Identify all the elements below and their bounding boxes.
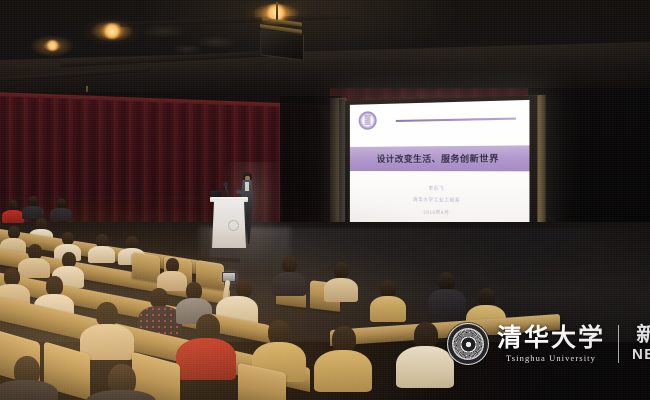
ceiling-vent-1 xyxy=(140,24,186,38)
audience-body xyxy=(324,278,358,302)
ceiling-lamp-3 xyxy=(44,40,61,51)
audience-body xyxy=(314,350,372,392)
audience-head xyxy=(46,276,63,296)
department-logo-icon xyxy=(359,111,377,130)
audience-head xyxy=(334,262,349,279)
audience-head xyxy=(332,326,356,353)
theater-seat xyxy=(132,252,160,282)
auditorium-photo: 设计改变生活、服务创新世界 李乐飞 清华大学工业工程系 2016年6月 xyxy=(0,0,650,400)
audience-head xyxy=(196,314,220,341)
slide-header-rule xyxy=(396,118,516,122)
seat-row-right xyxy=(330,314,560,346)
audience-body xyxy=(272,272,306,296)
audience-body xyxy=(2,210,24,223)
slide-presenter-name: 李乐飞 xyxy=(350,185,530,193)
presenter-shirt xyxy=(245,182,249,191)
audience-body xyxy=(176,338,236,380)
ceiling-vent-3 xyxy=(172,44,202,54)
audience-body xyxy=(0,380,58,400)
audience-body xyxy=(18,258,50,278)
audience-area xyxy=(0,196,650,400)
ceiling-lamp-2 xyxy=(100,23,124,39)
audience-body xyxy=(396,346,454,388)
slide-title-band: 设计改变生活、服务创新世界 xyxy=(350,145,530,171)
audience-body xyxy=(428,289,466,317)
audience-body xyxy=(370,296,406,322)
audience-body xyxy=(50,208,72,221)
audience-head xyxy=(414,322,438,349)
slide-title-text: 设计改变生活、服务创新世界 xyxy=(377,152,499,165)
ceiling-vent-2 xyxy=(196,36,236,48)
audience-head xyxy=(150,288,168,308)
audience-head xyxy=(282,256,297,273)
microphone-head-icon xyxy=(223,182,228,186)
audience-body xyxy=(88,246,115,263)
